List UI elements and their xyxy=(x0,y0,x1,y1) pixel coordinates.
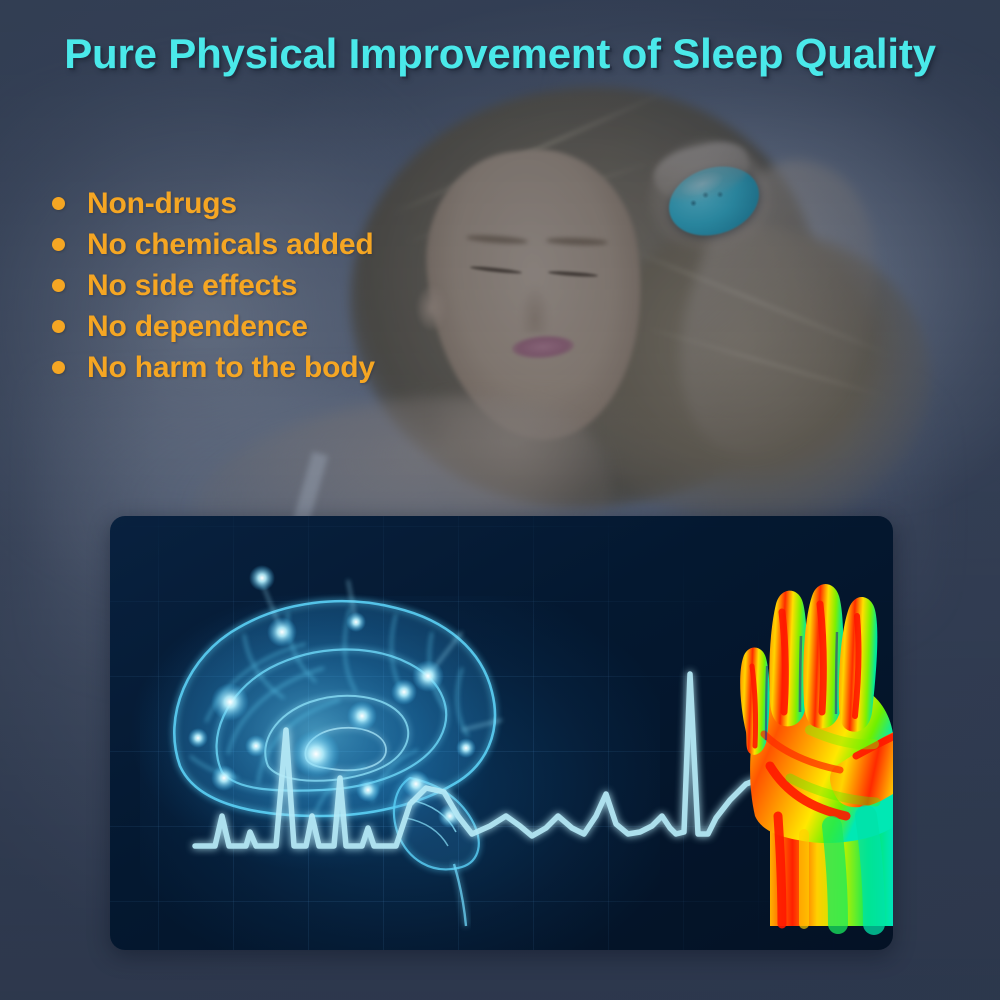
benefit-label: No chemicals added xyxy=(87,228,374,262)
brain-graphic xyxy=(130,565,502,926)
bullet-dot-icon xyxy=(52,197,65,210)
thermal-hand xyxy=(730,576,893,936)
list-item: No dependence xyxy=(52,306,375,347)
benefit-label: No side effects xyxy=(87,269,297,303)
bullet-dot-icon xyxy=(52,361,65,374)
bullet-dot-icon xyxy=(52,320,65,333)
tech-illustration-svg xyxy=(110,516,893,950)
tech-illustration-panel xyxy=(110,516,893,950)
benefit-label: No dependence xyxy=(87,310,308,344)
list-item: No harm to the body xyxy=(52,347,375,388)
list-item: No chemicals added xyxy=(52,224,375,265)
poster-root: Pure Physical Improvement of Sleep Quali… xyxy=(0,0,1000,1000)
benefit-label: No harm to the body xyxy=(87,351,375,385)
list-item: No side effects xyxy=(52,265,375,306)
page-title: Pure Physical Improvement of Sleep Quali… xyxy=(0,30,1000,78)
bullet-dot-icon xyxy=(52,279,65,292)
bullet-dot-icon xyxy=(52,238,65,251)
list-item: Non-drugs xyxy=(52,183,375,224)
benefits-list: Non-drugs No chemicals added No side eff… xyxy=(52,183,375,388)
benefit-label: Non-drugs xyxy=(87,187,237,221)
